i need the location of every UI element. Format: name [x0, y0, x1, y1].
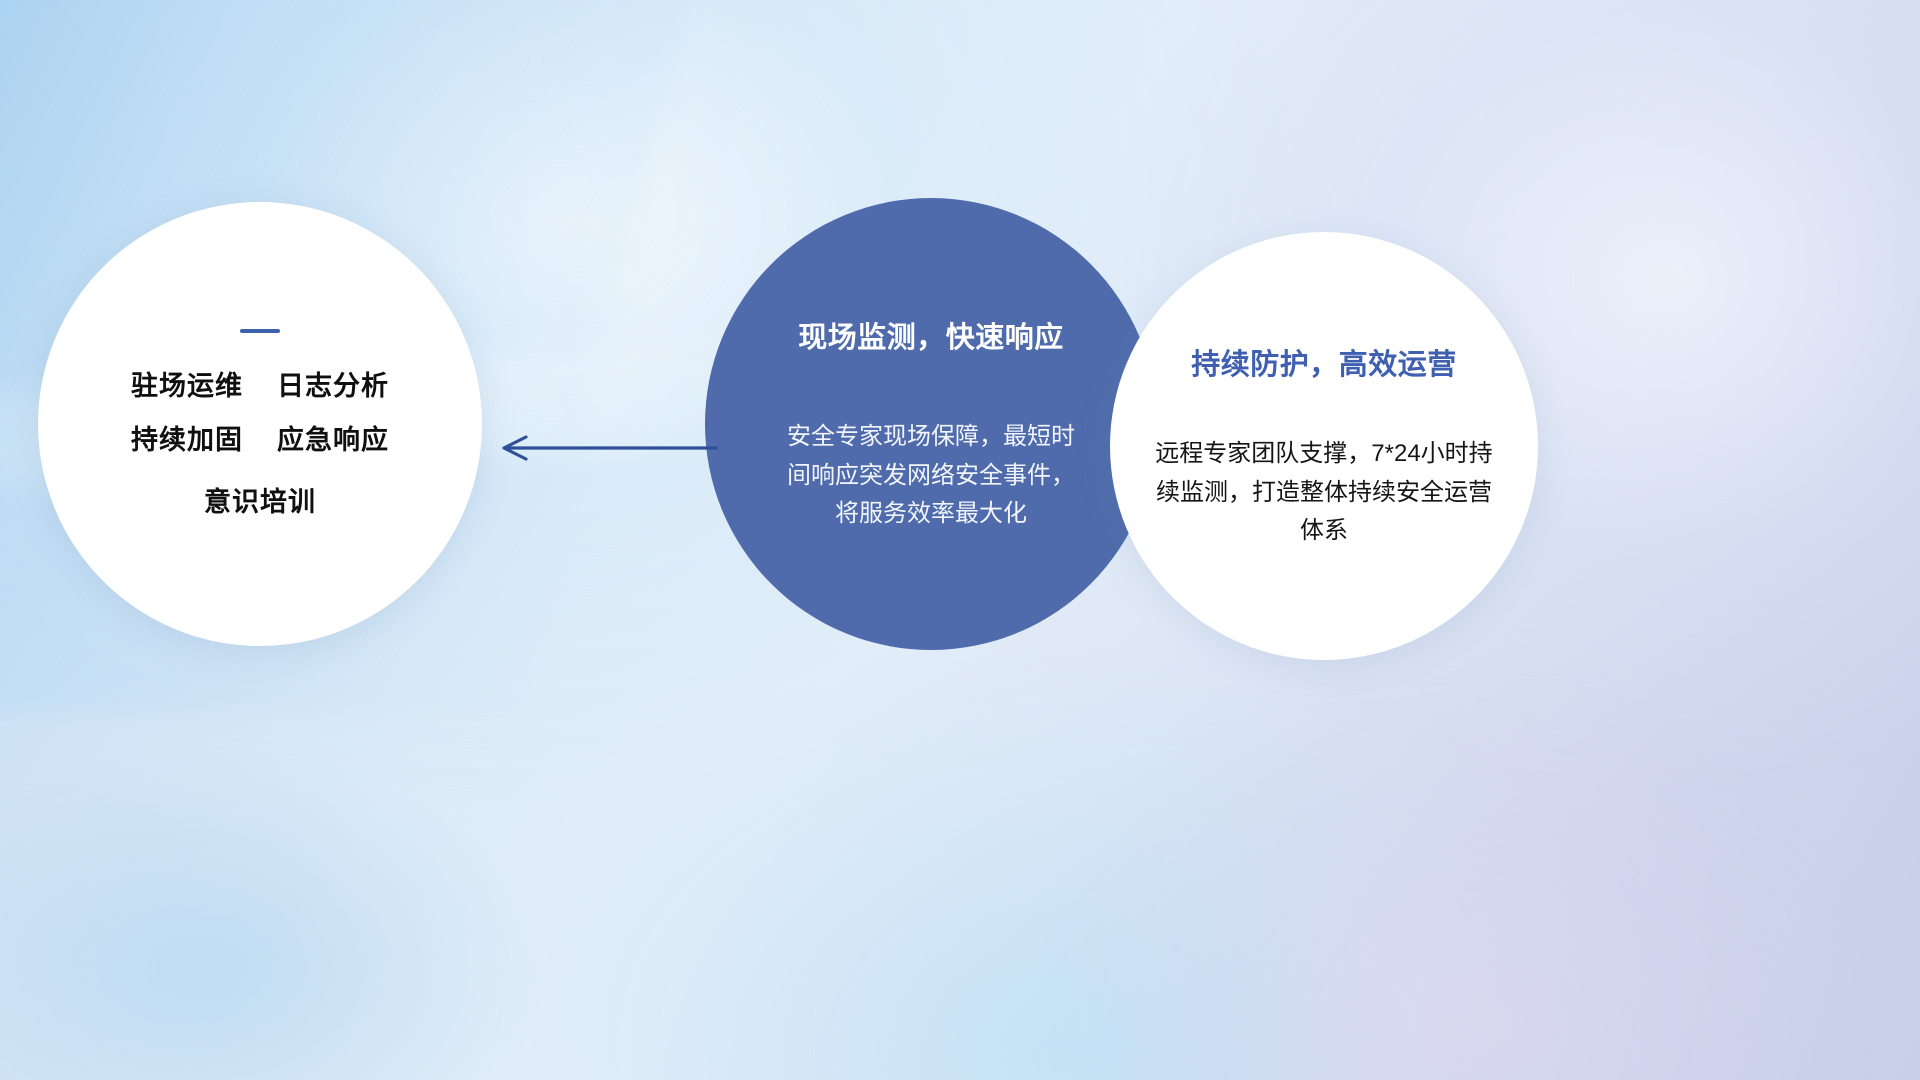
capability-line-1: 驻场运维 日志分析 — [131, 371, 389, 403]
capability-line-2: 持续加固 应急响应 — [131, 425, 389, 457]
divider-dash-icon — [240, 329, 280, 333]
right-circle-body: 远程专家团队支撑，7*24小时持续监测，打造整体持续安全运营体系 — [1147, 435, 1501, 552]
right-circle-title: 持续防护，高效运营 — [1191, 341, 1457, 383]
capability-line-3: 意识培训 — [204, 487, 316, 519]
middle-circle-title: 现场监测，快速响应 — [798, 314, 1064, 356]
arrow-left-icon — [490, 420, 720, 476]
three-circle-diagram: 驻场运维 日志分析 持续加固 应急响应 意识培训 现场监测，快速响应 安全专家现… — [0, 0, 1920, 1080]
capability-circle-left[interactable]: 驻场运维 日志分析 持续加固 应急响应 意识培训 — [38, 202, 482, 646]
capability-circle-right[interactable]: 持续防护，高效运营 远程专家团队支撑，7*24小时持续监测，打造整体持续安全运营… — [1110, 232, 1538, 660]
capability-circle-middle[interactable]: 现场监测，快速响应 安全专家现场保障，最短时间响应突发网络安全事件，将服务效率最… — [705, 198, 1157, 650]
middle-circle-body: 安全专家现场保障，最短时间响应突发网络安全事件，将服务效率最大化 — [779, 418, 1083, 535]
